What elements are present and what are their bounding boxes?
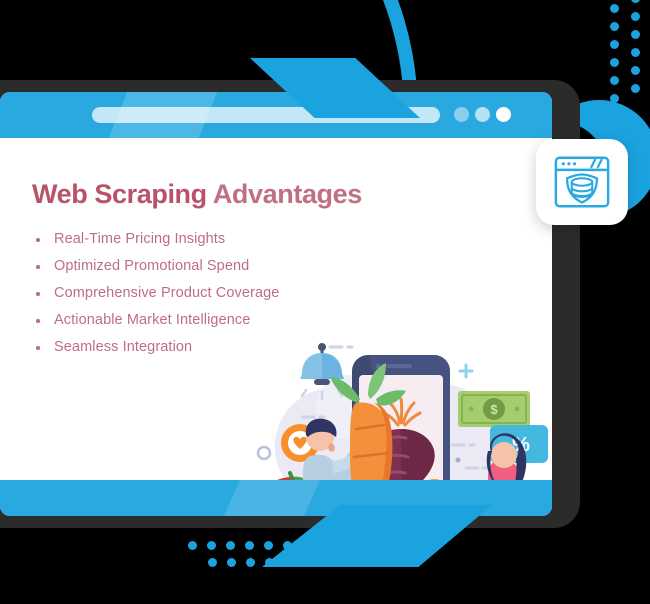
decorative-dot-column-a xyxy=(610,4,619,103)
footer-sheen xyxy=(224,480,320,516)
maximize-dot-icon[interactable] xyxy=(475,107,490,122)
browser-shield-database-icon xyxy=(552,154,612,210)
dot xyxy=(264,541,273,550)
list-item: Comprehensive Product Coverage xyxy=(32,285,279,301)
page-title-soft: Advantages xyxy=(207,179,362,209)
dot xyxy=(610,94,619,103)
dot xyxy=(631,66,640,75)
page-title: Web Scraping Advantages xyxy=(32,179,362,210)
dot xyxy=(610,76,619,85)
poster-canvas: Web Scraping Advantages Real-Time Pricin… xyxy=(0,0,650,604)
bullet-point-icon xyxy=(36,346,40,350)
bullet-point-icon xyxy=(36,319,40,323)
list-item-label: Comprehensive Product Coverage xyxy=(54,285,279,301)
dot xyxy=(207,541,216,550)
browser-window: Web Scraping Advantages Real-Time Pricin… xyxy=(0,92,552,516)
list-item: Seamless Integration xyxy=(32,339,279,355)
bullet-point-icon xyxy=(36,238,40,242)
monitor-frame: Web Scraping Advantages Real-Time Pricin… xyxy=(0,80,580,528)
dot xyxy=(631,48,640,57)
decorative-dot-column-b xyxy=(631,0,640,93)
dot xyxy=(188,541,197,550)
dot xyxy=(631,12,640,21)
list-item-label: Optimized Promotional Spend xyxy=(54,258,249,274)
dot xyxy=(610,4,619,13)
decorative-dot-row-a xyxy=(188,541,292,550)
list-item-label: Actionable Market Intelligence xyxy=(54,312,250,328)
page-title-strong: Web Scraping xyxy=(32,179,207,209)
dot xyxy=(208,558,217,567)
page-content: Web Scraping Advantages Real-Time Pricin… xyxy=(0,138,552,480)
dot xyxy=(631,30,640,39)
dot xyxy=(245,541,254,550)
dollar-symbol: $ xyxy=(490,402,498,417)
minimize-dot-icon[interactable] xyxy=(454,107,469,122)
dot xyxy=(610,40,619,49)
dot xyxy=(227,558,236,567)
dot xyxy=(610,22,619,31)
list-item-label: Seamless Integration xyxy=(54,339,192,355)
list-item-label: Real-Time Pricing Insights xyxy=(54,231,225,247)
web-scraping-badge xyxy=(536,139,628,225)
bullet-point-icon xyxy=(36,265,40,269)
dot xyxy=(631,84,640,93)
list-item: Real-Time Pricing Insights xyxy=(32,231,279,247)
dot xyxy=(246,558,255,567)
dot xyxy=(631,0,640,3)
list-item: Optimized Promotional Spend xyxy=(32,258,279,274)
bullet-point-icon xyxy=(36,292,40,296)
browser-title-bar xyxy=(0,92,552,138)
dot xyxy=(610,58,619,67)
list-item: Actionable Market Intelligence xyxy=(32,312,279,328)
close-dot-icon[interactable] xyxy=(496,107,511,122)
dot xyxy=(226,541,235,550)
dollar-bill-icon: $ xyxy=(458,391,530,427)
advantages-list: Real-Time Pricing Insights Optimized Pro… xyxy=(32,231,279,366)
